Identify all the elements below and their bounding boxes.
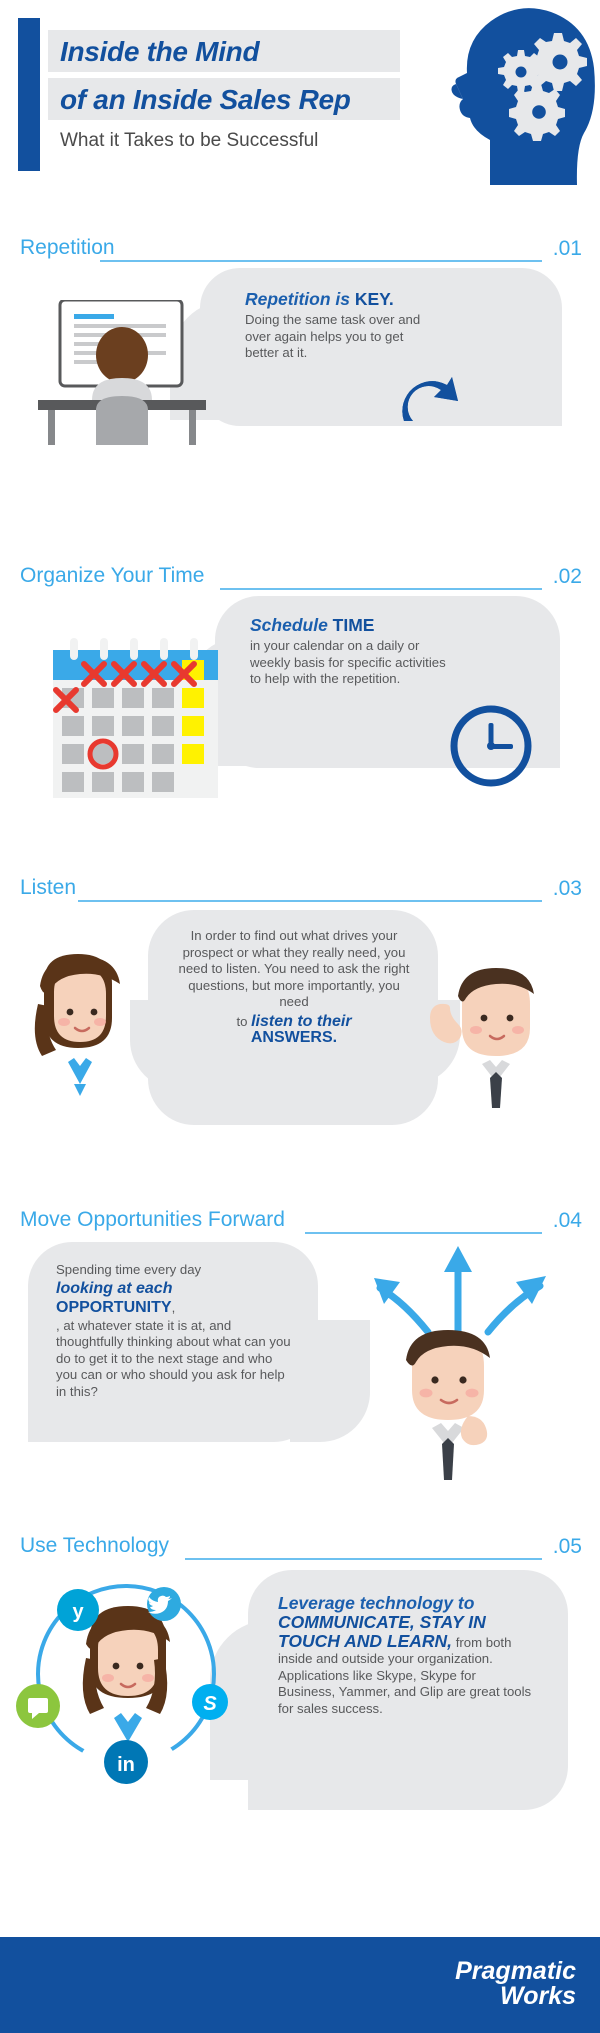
bubble-text-organize: Schedule TIME in your calendar on a dail…	[250, 614, 450, 688]
bubble-body-bold-opportunities: OPPORTUNITY	[56, 1299, 172, 1316]
section-number-listen: .03	[553, 877, 582, 901]
svg-text:y: y	[72, 1601, 84, 1623]
bubble-lead-repetition: Repetition is	[245, 289, 355, 309]
bubble-tail-plain-listen: to	[236, 1014, 251, 1029]
woman-speaking-illustration	[14, 952, 154, 1112]
infographic-page: Inside the Mind of an Inside Sales Rep W…	[0, 0, 600, 2033]
head-with-gears-icon	[370, 0, 600, 185]
bubble-text-listen: In order to find out what drives your pr…	[172, 928, 416, 1047]
yammer-icon: y	[57, 1589, 99, 1631]
section-title-use-technology: Use Technology	[20, 1534, 169, 1558]
page-title-line1: Inside the Mind	[60, 36, 259, 68]
bubble-body-pre-opportunities: Spending time every day	[56, 1262, 296, 1279]
section-rule	[78, 900, 542, 902]
bubble-tail-bold-listen: ANSWERS.	[251, 1029, 337, 1046]
section-rule	[185, 1558, 542, 1560]
technology-illustration: y S in	[16, 1562, 246, 1788]
section-rule	[100, 260, 542, 262]
bubble-lead-italic-technology: Leverage technology to	[278, 1593, 474, 1613]
section-header-listen: Listen .03	[0, 876, 600, 910]
svg-text:in: in	[117, 1754, 135, 1776]
bubble-lead-organize: Schedule	[250, 615, 333, 635]
section-title-move-opportunities: Move Opportunities Forward	[20, 1208, 285, 1232]
thinking-man-illustration	[372, 1320, 542, 1480]
man-listening-illustration	[426, 960, 586, 1112]
bubble-body-listen: In order to find out what drives your pr…	[179, 928, 410, 1009]
bubble-body-post-opportunities: , at whatever state it is at, and though…	[56, 1318, 296, 1401]
page-title-line2: of an Inside Sales Rep	[60, 84, 351, 116]
bubble-text-technology: Leverage technology to COMMUNICATE, STAY…	[278, 1592, 536, 1717]
bubble-text-opportunities: Spending time every day looking at each …	[56, 1262, 296, 1400]
brand-logo: Pragmatic Works	[455, 1959, 576, 2009]
bubble-lead-tail-repetition: .	[389, 289, 394, 309]
chat-icon	[16, 1684, 60, 1728]
cycle-arrows-icon	[392, 375, 474, 441]
section-number-repetition: .01	[553, 237, 582, 261]
desk-workstation-illustration	[30, 300, 240, 445]
section-rule	[220, 588, 542, 590]
section-number-use-technology: .05	[553, 1535, 582, 1559]
bubble-body-italic-opportunities: looking at each	[56, 1279, 296, 1298]
clock-icon	[450, 705, 532, 787]
page-subtitle: What it Takes to be Successful	[60, 130, 318, 152]
twitter-icon	[147, 1587, 181, 1621]
bubble-lead-bold-organize: TIME	[333, 615, 375, 635]
section-number-move-opportunities: .04	[553, 1209, 582, 1233]
brand-logo-line1: Pragmatic	[455, 1959, 576, 1984]
bubble-opportunities-tail	[290, 1320, 370, 1442]
section-header-repetition: Repetition .01	[0, 236, 600, 270]
section-number-organize-your-time: .02	[553, 565, 582, 589]
section-title-repetition: Repetition	[20, 236, 115, 260]
header: Inside the Mind of an Inside Sales Rep W…	[0, 0, 600, 185]
bubble-body-repetition: Doing the same task over and over again …	[245, 312, 435, 362]
calendar-illustration	[48, 632, 223, 802]
linkedin-icon: in	[104, 1740, 148, 1784]
bubble-text-repetition: Repetition is KEY. Doing the same task o…	[245, 288, 435, 362]
svg-text:S: S	[203, 1693, 217, 1715]
header-accent-bar	[18, 18, 40, 171]
section-title-organize-your-time: Organize Your Time	[20, 564, 204, 588]
bubble-tail-italic-listen: listen to their	[251, 1013, 351, 1030]
bubble-lead-bold-repetition: KEY	[355, 289, 389, 309]
footer: Pragmatic Works	[0, 1937, 600, 2033]
section-title-listen: Listen	[20, 876, 76, 900]
brand-logo-line2: Works	[455, 1984, 576, 2009]
section-header-organize-your-time: Organize Your Time .02	[0, 564, 600, 598]
skype-icon: S	[192, 1684, 228, 1720]
bubble-body-organize: in your calendar on a daily or weekly ba…	[250, 638, 450, 688]
